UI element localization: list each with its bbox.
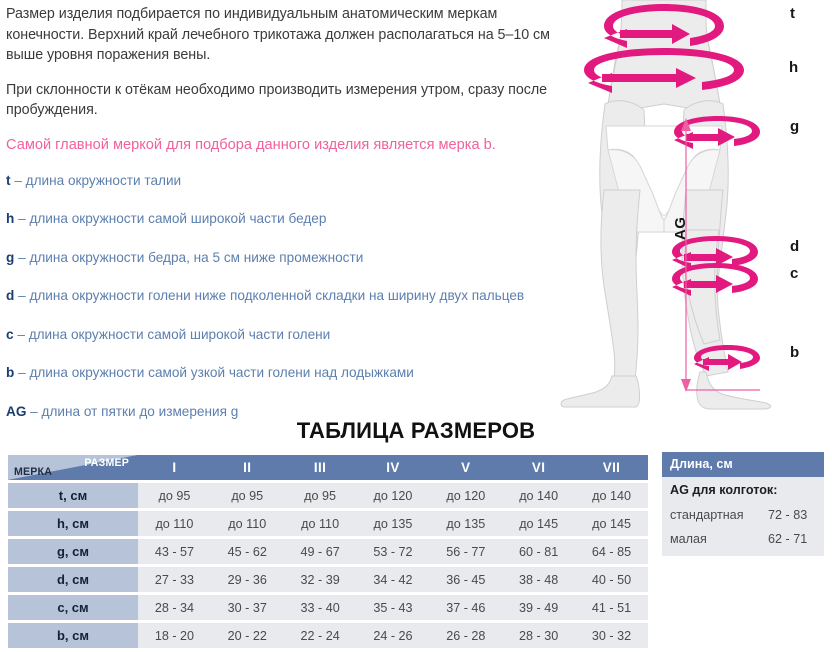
cell-h-6: до 145 xyxy=(502,511,575,536)
size-column-header-2: II xyxy=(211,455,284,480)
cell-c-6: 39 - 49 xyxy=(502,595,575,620)
cell-b-1: 18 - 20 xyxy=(138,623,211,648)
figure-label-h: h xyxy=(789,59,798,76)
cell-c-1: 28 - 34 xyxy=(138,595,211,620)
measurement-legend-d: d – длина окружности голени ниже подколе… xyxy=(6,286,558,305)
row-label-h: h, см xyxy=(8,511,138,536)
cell-b-6: 28 - 30 xyxy=(502,623,575,648)
cell-d-3: 32 - 39 xyxy=(284,567,357,592)
table-row: b, см 18 - 20 20 - 22 22 - 24 24 - 26 26… xyxy=(8,623,648,648)
cell-t-2: до 95 xyxy=(211,483,284,508)
table-row: d, см 27 - 33 29 - 36 32 - 39 34 - 42 36… xyxy=(8,567,648,592)
size-column-header-1: I xyxy=(138,455,211,480)
measurement-text-d: длина окружности голени ниже подколенной… xyxy=(29,288,524,303)
cell-h-3: до 110 xyxy=(284,511,357,536)
cell-c-7: 41 - 51 xyxy=(575,595,648,620)
cell-h-4: до 135 xyxy=(357,511,430,536)
figure-label-d: d xyxy=(790,238,799,255)
cell-c-5: 37 - 46 xyxy=(429,595,502,620)
length-value-small: 62 - 71 xyxy=(768,532,816,546)
instructions-and-figure-area: Размер изделия подбирается по индивидуал… xyxy=(0,0,832,412)
measurement-dash-d: – xyxy=(18,288,26,303)
cell-g-1: 43 - 57 xyxy=(138,539,211,564)
page-title: ТАБЛИЦА РАЗМЕРОВ xyxy=(0,418,832,444)
measurement-dash-h: – xyxy=(18,211,26,226)
size-table-body: t, см до 95 до 95 до 95 до 120 до 120 до… xyxy=(8,483,648,648)
cell-h-5: до 135 xyxy=(429,511,502,536)
cell-t-4: до 120 xyxy=(357,483,430,508)
measurement-text-g: длина окружности бедра, на 5 см ниже про… xyxy=(29,250,363,265)
figure-label-b: b xyxy=(790,344,799,361)
cell-d-2: 29 - 36 xyxy=(211,567,284,592)
table-row: h, см до 110 до 110 до 110 до 135 до 135… xyxy=(8,511,648,536)
size-column-header-7: VII xyxy=(575,455,648,480)
length-row-small: малая 62 - 71 xyxy=(670,532,816,546)
row-label-b: b, см xyxy=(8,623,138,648)
corner-size-label: РАЗМЕР xyxy=(84,457,129,469)
length-name-standard: стандартная xyxy=(670,508,744,522)
intro-paragraph-1: Размер изделия подбирается по индивидуал… xyxy=(6,4,558,66)
corner-measure-label: МЕРКА xyxy=(14,466,52,478)
cell-b-7: 30 - 32 xyxy=(575,623,648,648)
measurement-text-b: длина окружности самой узкой части голен… xyxy=(29,365,413,380)
cell-g-4: 53 - 72 xyxy=(357,539,430,564)
cell-g-3: 49 - 67 xyxy=(284,539,357,564)
measurement-legend-b: b – длина окружности самой узкой части г… xyxy=(6,363,558,382)
size-table-header-row: РАЗМЕР МЕРКА I II III IV V VI VII xyxy=(8,455,648,480)
cell-t-7: до 140 xyxy=(575,483,648,508)
size-column-header-5: V xyxy=(429,455,502,480)
cell-g-5: 56 - 77 xyxy=(429,539,502,564)
measurement-key-b: b xyxy=(6,365,14,380)
cell-t-6: до 140 xyxy=(502,483,575,508)
cell-d-6: 38 - 48 xyxy=(502,567,575,592)
measurement-text-c: длина окружности самой широкой части гол… xyxy=(29,327,331,342)
cell-d-4: 34 - 42 xyxy=(357,567,430,592)
length-panel: Длина, см AG для колготок: стандартная 7… xyxy=(662,452,824,556)
figure-label-ag: AG xyxy=(672,217,689,240)
measurement-legend-g: g – длина окружности бедра, на 5 см ниже… xyxy=(6,248,558,267)
cell-g-2: 45 - 62 xyxy=(211,539,284,564)
measurement-dash-c: – xyxy=(17,327,25,342)
intro-paragraph-2: При склонности к отёкам необходимо произ… xyxy=(6,80,558,121)
length-name-small: малая xyxy=(670,532,707,546)
cell-c-3: 33 - 40 xyxy=(284,595,357,620)
measurement-key-t: t xyxy=(6,173,11,188)
length-row-standard: стандартная 72 - 83 xyxy=(670,508,816,522)
measurement-key-d: d xyxy=(6,288,14,303)
table-corner-cell: РАЗМЕР МЕРКА xyxy=(8,455,138,480)
measurement-legend-t: t – длина окружности талии xyxy=(6,171,558,190)
row-label-d: d, см xyxy=(8,567,138,592)
measurement-dash-b: – xyxy=(18,365,26,380)
table-row: g, см 43 - 57 45 - 62 49 - 67 53 - 72 56… xyxy=(8,539,648,564)
cell-c-2: 30 - 37 xyxy=(211,595,284,620)
measurement-key-h: h xyxy=(6,211,14,226)
table-row: c, см 28 - 34 30 - 37 33 - 40 35 - 43 37… xyxy=(8,595,648,620)
instructions-text-column: Размер изделия подбирается по индивидуал… xyxy=(6,4,558,440)
cell-d-1: 27 - 33 xyxy=(138,567,211,592)
row-label-c: c, см xyxy=(8,595,138,620)
size-table-head: РАЗМЕР МЕРКА I II III IV V VI VII xyxy=(8,455,648,480)
measurement-legend-c: c – длина окружности самой широкой части… xyxy=(6,325,558,344)
length-panel-subtitle: AG для колготок: xyxy=(670,483,816,497)
length-value-standard: 72 - 83 xyxy=(768,508,816,522)
figure-label-t: t xyxy=(790,5,795,22)
cell-d-7: 40 - 50 xyxy=(575,567,648,592)
cell-b-4: 24 - 26 xyxy=(357,623,430,648)
size-column-header-4: IV xyxy=(357,455,430,480)
anatomical-measurement-diagram: .body-shape { fill:#ececec; stroke:#cfcf… xyxy=(560,0,832,412)
size-column-header-3: III xyxy=(284,455,357,480)
length-panel-header: Длина, см xyxy=(662,452,824,477)
size-table: РАЗМЕР МЕРКА I II III IV V VI VII t, см … xyxy=(8,452,648,651)
row-label-t: t, см xyxy=(8,483,138,508)
cell-b-5: 26 - 28 xyxy=(429,623,502,648)
measurement-text-t: длина окружности талии xyxy=(26,173,181,188)
measurement-key-c: c xyxy=(6,327,14,342)
measurement-text-h: длина окружности самой широкой части бед… xyxy=(29,211,326,226)
cell-g-6: 60 - 81 xyxy=(502,539,575,564)
measurement-dash-g: – xyxy=(18,250,26,265)
cell-h-7: до 145 xyxy=(575,511,648,536)
key-measurement-highlight: Самой главной меркой для подбора данного… xyxy=(6,135,558,155)
cell-h-1: до 110 xyxy=(138,511,211,536)
length-panel-body: AG для колготок: стандартная 72 - 83 мал… xyxy=(662,477,824,556)
measurement-dash-ag: – xyxy=(30,404,38,419)
row-label-g: g, см xyxy=(8,539,138,564)
measurement-dash-t: – xyxy=(14,173,22,188)
measurement-legend-h: h – длина окружности самой широкой части… xyxy=(6,209,558,228)
cell-g-7: 64 - 85 xyxy=(575,539,648,564)
measurement-key-ag: AG xyxy=(6,404,26,419)
cell-t-5: до 120 xyxy=(429,483,502,508)
measurement-key-g: g xyxy=(6,250,14,265)
cell-b-2: 20 - 22 xyxy=(211,623,284,648)
figure-label-c: c xyxy=(790,265,798,282)
cell-t-1: до 95 xyxy=(138,483,211,508)
cell-b-3: 22 - 24 xyxy=(284,623,357,648)
cell-h-2: до 110 xyxy=(211,511,284,536)
cell-c-4: 35 - 43 xyxy=(357,595,430,620)
measurement-text-ag: длина от пятки до измерения g xyxy=(42,404,239,419)
cell-d-5: 36 - 45 xyxy=(429,567,502,592)
cell-t-3: до 95 xyxy=(284,483,357,508)
size-column-header-6: VI xyxy=(502,455,575,480)
figure-label-g: g xyxy=(790,118,799,135)
table-row: t, см до 95 до 95 до 95 до 120 до 120 до… xyxy=(8,483,648,508)
